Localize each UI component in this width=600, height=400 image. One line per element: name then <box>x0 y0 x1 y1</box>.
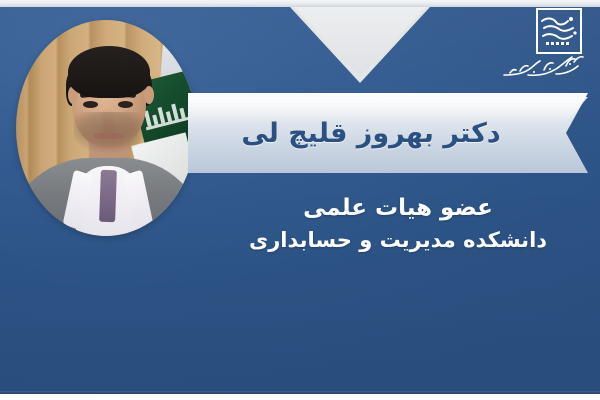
page-title: دکتر بهروز قلیچ لی <box>188 93 588 173</box>
name-ribbon: دکتر بهروز قلیچ لی <box>188 93 588 173</box>
role-block: عضو هیات علمی دانشکده مدیریت و حسابداری <box>196 192 600 256</box>
mouth <box>94 133 124 139</box>
public-relations-calligraphy <box>500 50 588 86</box>
avatar <box>16 20 196 236</box>
hair <box>68 46 150 98</box>
nose <box>102 108 114 130</box>
role-line-secondary: دانشکده مدیریت و حسابداری <box>196 224 600 256</box>
profile-banner-card: دکتر بهروز قلیچ لی عضو هیات علمی دانشکده… <box>0 0 600 400</box>
ear-right <box>144 86 154 104</box>
panel-bottom-edge <box>0 391 600 394</box>
eye-left <box>83 101 98 108</box>
portrait-photo <box>16 20 196 236</box>
university-logo <box>500 6 588 90</box>
collar-placket <box>99 170 117 223</box>
role-line-primary: عضو هیات علمی <box>196 192 600 224</box>
shahid-beheshti-logo-icon <box>536 8 582 54</box>
eye-right <box>118 101 133 108</box>
